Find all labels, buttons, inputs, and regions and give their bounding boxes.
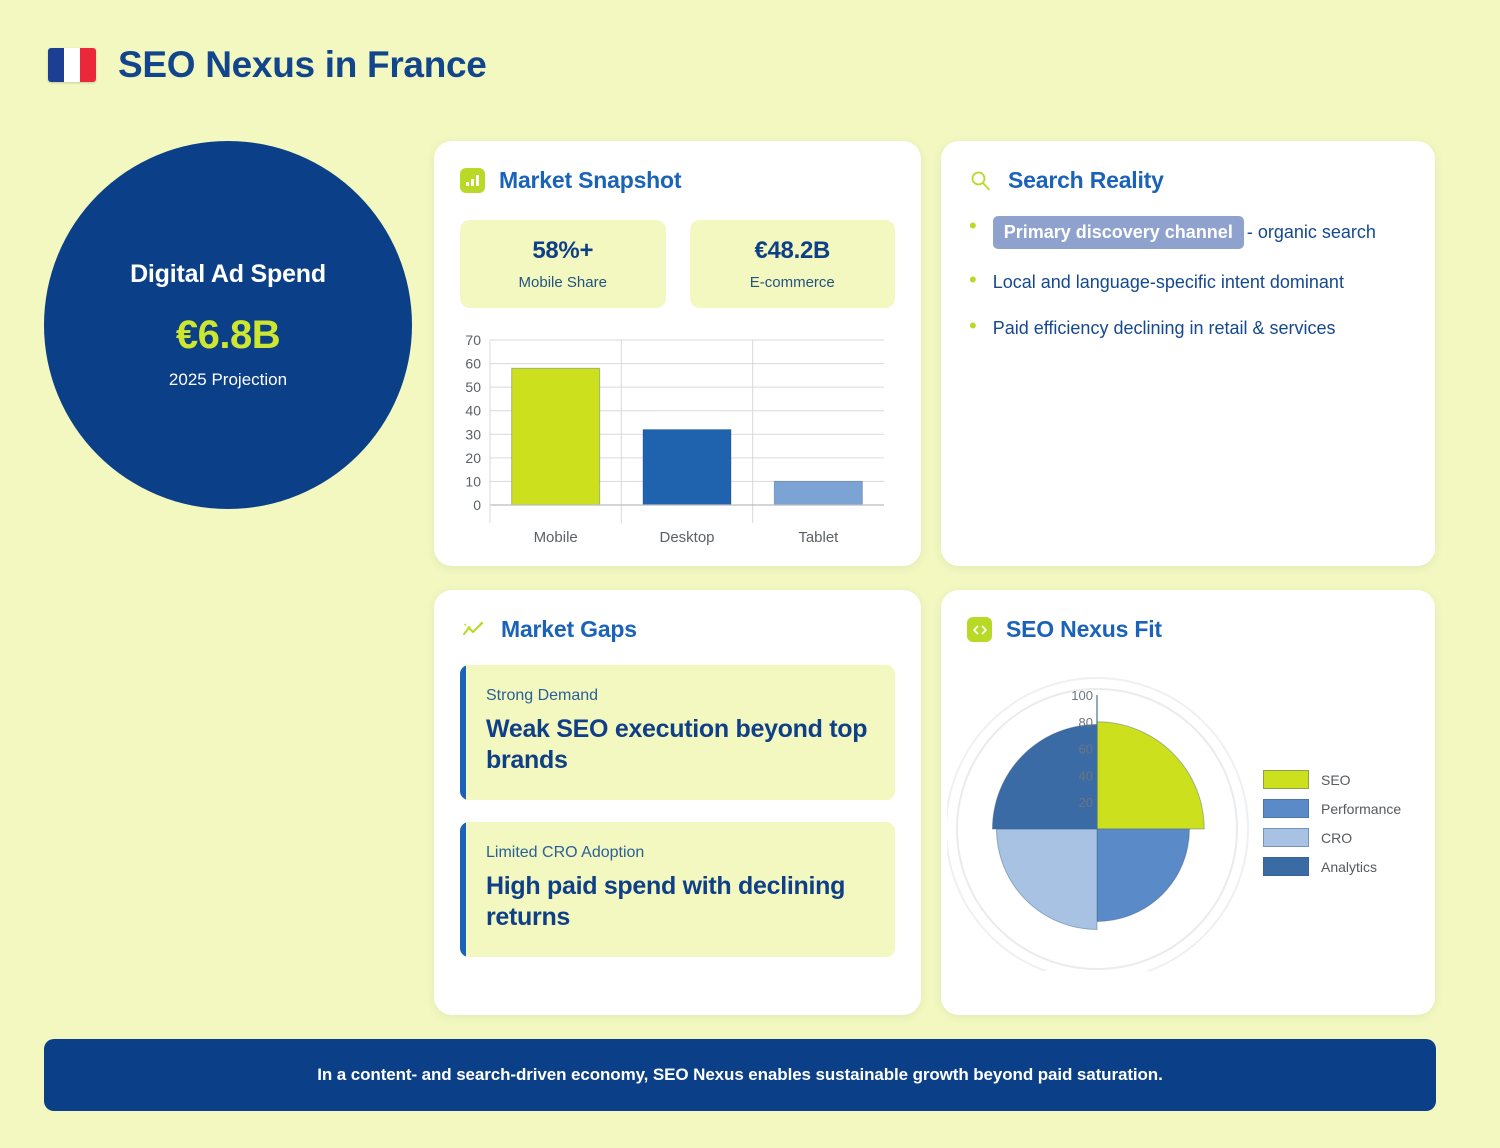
stat-label: Mobile Share — [519, 274, 607, 291]
stat-label: E-commerce — [750, 274, 835, 291]
list-item: • Local and language-specific intent dom… — [969, 270, 1407, 294]
svg-text:0: 0 — [473, 497, 481, 513]
polar-chart-legend: SEO Performance CRO Analytics — [1263, 770, 1401, 876]
gap-kicker: Strong Demand — [486, 687, 869, 705]
card-title: Market Gaps — [501, 616, 637, 643]
svg-text:40: 40 — [465, 403, 481, 419]
svg-text:60: 60 — [465, 356, 481, 372]
hero-subtitle: 2025 Projection — [169, 370, 287, 390]
legend-label: Analytics — [1321, 859, 1377, 875]
bar-chart-icon — [460, 168, 485, 193]
footer-banner: In a content- and search-driven economy,… — [44, 1039, 1436, 1111]
card-search-reality: Search Reality • Primary discovery chann… — [941, 141, 1435, 566]
trend-line-icon — [460, 617, 487, 642]
svg-text:70: 70 — [465, 332, 481, 348]
page-title: SEO Nexus in France — [118, 44, 487, 86]
card-header: Search Reality — [941, 141, 1435, 194]
gap-headline: Weak SEO execution beyond top brands — [486, 714, 869, 776]
bullet-dot-icon: • — [969, 316, 977, 336]
infographic-page: SEO Nexus in France Digital Ad Spend €6.… — [0, 0, 1500, 1148]
svg-text:20: 20 — [465, 450, 481, 466]
bullet-dot-icon: • — [969, 216, 977, 236]
stat-box-ecommerce: €48.2B E-commerce — [690, 220, 896, 308]
card-header: Market Snapshot — [434, 141, 921, 194]
legend-item: SEO — [1263, 770, 1401, 789]
search-reality-bullets: • Primary discovery channel- organic sea… — [941, 194, 1435, 340]
svg-text:100: 100 — [1071, 688, 1093, 703]
gap-kicker: Limited CRO Adoption — [486, 844, 869, 862]
svg-text:50: 50 — [465, 379, 481, 395]
gap-headline: High paid spend with declining returns — [486, 871, 869, 933]
legend-swatch-analytics — [1263, 857, 1309, 876]
card-header: Market Gaps — [434, 590, 921, 643]
market-gap-items: Strong Demand Weak SEO execution beyond … — [434, 643, 921, 957]
svg-text:40: 40 — [1079, 768, 1093, 783]
card-title: Search Reality — [1008, 167, 1164, 194]
list-item: • Paid efficiency declining in retail & … — [969, 316, 1407, 340]
svg-text:Tablet: Tablet — [798, 529, 839, 545]
legend-label: CRO — [1321, 830, 1352, 846]
hero-label: Digital Ad Spend — [130, 260, 326, 289]
svg-text:20: 20 — [1079, 795, 1093, 810]
card-title: Market Snapshot — [499, 167, 681, 194]
bullet-text: Local and language-specific intent domin… — [993, 270, 1344, 294]
hero-value: €6.8B — [176, 313, 280, 358]
legend-swatch-seo — [1263, 770, 1309, 789]
card-seo-nexus-fit: SEO Nexus Fit 20406080100 SEO Performanc… — [941, 590, 1435, 1015]
stat-box-mobile-share: 58%+ Mobile Share — [460, 220, 666, 308]
svg-text:80: 80 — [1079, 715, 1093, 730]
svg-text:Mobile: Mobile — [534, 529, 578, 545]
bullet-text: Paid efficiency declining in retail & se… — [993, 316, 1336, 340]
gap-item-limited-cro-adoption: Limited CRO Adoption High paid spend wit… — [460, 822, 895, 957]
seo-fit-polar-chart: 20406080100 SEO Performance CRO Analytic… — [941, 643, 1435, 971]
bullet-dot-icon: • — [969, 270, 977, 290]
legend-label: SEO — [1321, 772, 1351, 788]
digital-ad-spend-circle: Digital Ad Spend €6.8B 2025 Projection — [44, 141, 412, 509]
svg-text:30: 30 — [465, 426, 481, 442]
card-title: SEO Nexus Fit — [1006, 616, 1162, 643]
legend-swatch-cro — [1263, 828, 1309, 847]
legend-item: Performance — [1263, 799, 1401, 818]
stat-boxes: 58%+ Mobile Share €48.2B E-commerce — [434, 194, 921, 308]
bullet-tail: - organic search — [1247, 222, 1376, 242]
svg-text:60: 60 — [1079, 742, 1093, 757]
highlight-pill: Primary discovery channel — [993, 216, 1244, 249]
card-market-snapshot: Market Snapshot 58%+ Mobile Share €48.2B… — [434, 141, 921, 566]
bar-chart-svg: 010203040506070MobileDesktopTablet — [442, 330, 897, 545]
page-header: SEO Nexus in France — [48, 44, 487, 86]
svg-text:10: 10 — [465, 473, 481, 489]
card-market-gaps: Market Gaps Strong Demand Weak SEO execu… — [434, 590, 921, 1015]
device-share-bar-chart: 010203040506070MobileDesktopTablet — [434, 308, 921, 550]
search-icon — [967, 168, 994, 193]
card-header: SEO Nexus Fit — [941, 590, 1435, 643]
legend-item: CRO — [1263, 828, 1401, 847]
legend-item: Analytics — [1263, 857, 1401, 876]
stat-value: €48.2B — [754, 237, 830, 265]
gap-item-strong-demand: Strong Demand Weak SEO execution beyond … — [460, 665, 895, 800]
code-brackets-icon — [967, 617, 992, 642]
legend-label: Performance — [1321, 801, 1401, 817]
list-item: • Primary discovery channel- organic sea… — [969, 216, 1407, 249]
polar-chart-svg: 20406080100 — [947, 661, 1257, 971]
stat-value: 58%+ — [532, 237, 593, 265]
france-flag-icon — [48, 48, 96, 82]
footer-text: In a content- and search-driven economy,… — [317, 1065, 1162, 1085]
legend-swatch-performance — [1263, 799, 1309, 818]
svg-text:Desktop: Desktop — [659, 529, 714, 545]
bullet-text: Primary discovery channel- organic searc… — [993, 216, 1376, 249]
